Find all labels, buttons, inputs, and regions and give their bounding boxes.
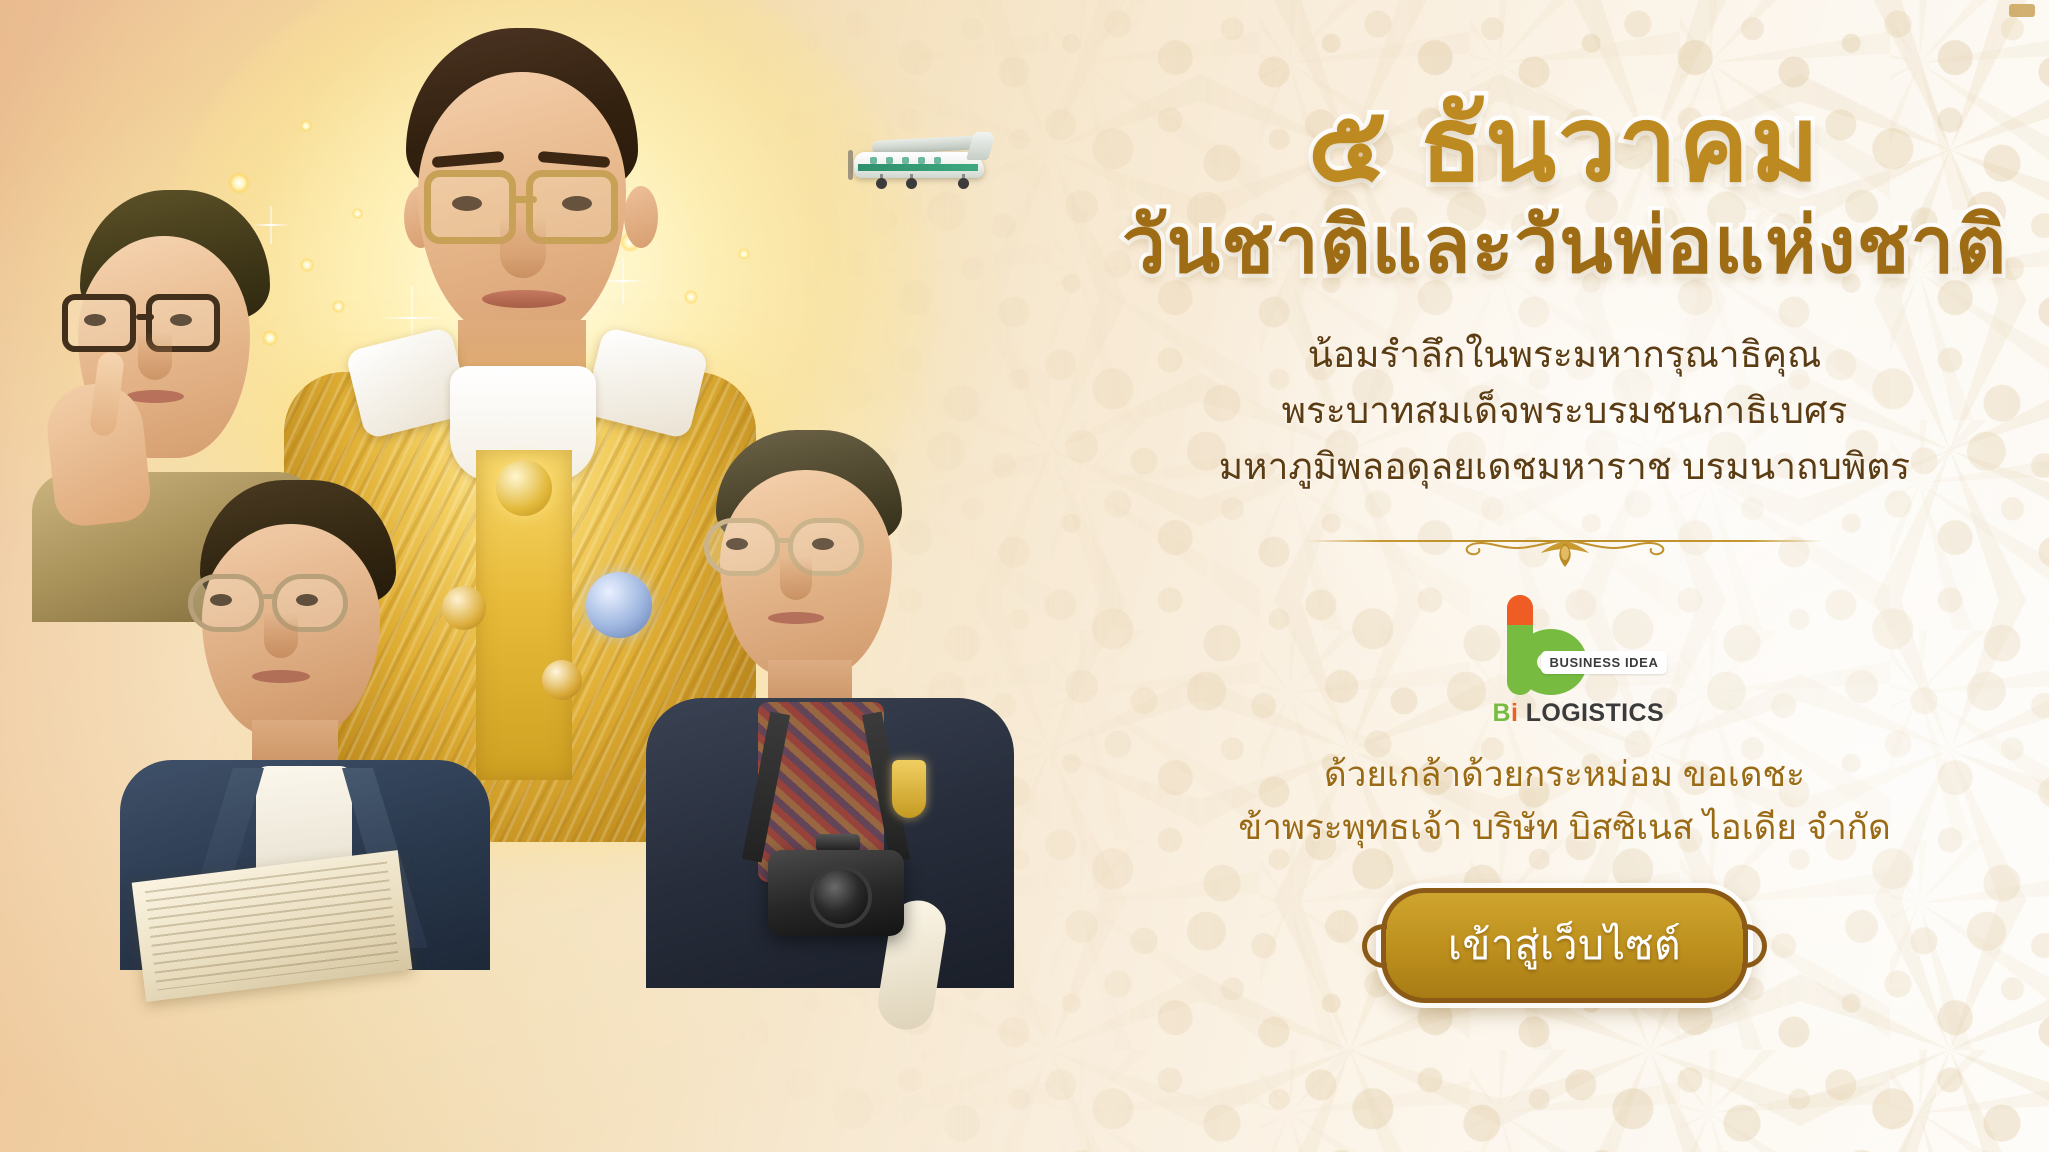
logo-wordmark: Bi LOGISTICS: [1493, 699, 1665, 728]
tribute-line-3: มหาภูมิพลอดุลยเดชมหาราช บรมนาถบพิตร: [1080, 439, 2049, 495]
royal-medal: [496, 460, 552, 516]
headline-occasion: วันชาติและวันพ่อแห่งชาติ: [1080, 204, 2049, 287]
airplane-icon: [836, 126, 1000, 200]
royal-medal: [542, 660, 582, 700]
eyeglasses-icon: [704, 518, 780, 576]
signoff-paragraph: ด้วยเกล้าด้วยกระหม่อม ขอเดชะ ข้าพระพุทธเ…: [1080, 749, 2049, 854]
commemorative-banner: ๕ ธันวาคม วันชาติและวันพ่อแห่งชาติ น้อมร…: [0, 0, 2049, 1152]
tribute-line-2: พระบาทสมเด็จพระบรมชนกาธิเบศร: [1080, 383, 2049, 439]
royal-insignia: [892, 760, 926, 818]
banner-content-column: ๕ ธันวาคม วันชาติและวันพ่อแห่งชาติ น้อมร…: [1080, 0, 2049, 1152]
headline-date: ๕ ธันวาคม: [1080, 92, 2049, 198]
king-portrait-with-camera: [640, 430, 1020, 990]
royal-portrait-montage: [0, 0, 1020, 1152]
eyeglasses-icon: [62, 294, 136, 352]
tribute-paragraph: น้อมรำลึกในพระมหากรุณาธิคุณ พระบาทสมเด็จ…: [1080, 327, 2049, 496]
logo-business-idea-label: BUSINESS IDEA: [1541, 651, 1668, 674]
bi-logistics-logo: BUSINESS IDEA Bi LOGISTICS: [1485, 595, 1645, 723]
logo-b-mark: BUSINESS IDEA: [1507, 595, 1619, 695]
logo-wordmark-logistics: LOGISTICS: [1526, 699, 1664, 727]
king-portrait-lower-left: [120, 480, 490, 960]
camera-lens-icon: [810, 866, 872, 928]
logo-orange-tip: [1507, 595, 1533, 625]
cta-container: เข้าสู่เว็บไซต์: [1080, 888, 2049, 1003]
enter-website-button[interactable]: เข้าสู่เว็บไซต์: [1381, 888, 1748, 1003]
signoff-line-1: ด้วยเกล้าด้วยกระหม่อม ขอเดชะ: [1080, 749, 2049, 802]
logo-wordmark-bi: Bi: [1493, 699, 1519, 727]
eyeglasses-icon: [188, 574, 264, 632]
tribute-line-1: น้อมรำลึกในพระมหากรุณาธิคุณ: [1080, 327, 2049, 383]
flourish-icon: [1385, 529, 1745, 569]
signoff-line-2: ข้าพระพุทธเจ้า บริษัท บิสซิเนส ไอเดีย จำ…: [1080, 802, 2049, 855]
logo-wordmark-i-accent: i: [1511, 699, 1518, 727]
ornamental-divider: [1385, 529, 1745, 569]
corner-accent-mark: [2009, 4, 2035, 17]
